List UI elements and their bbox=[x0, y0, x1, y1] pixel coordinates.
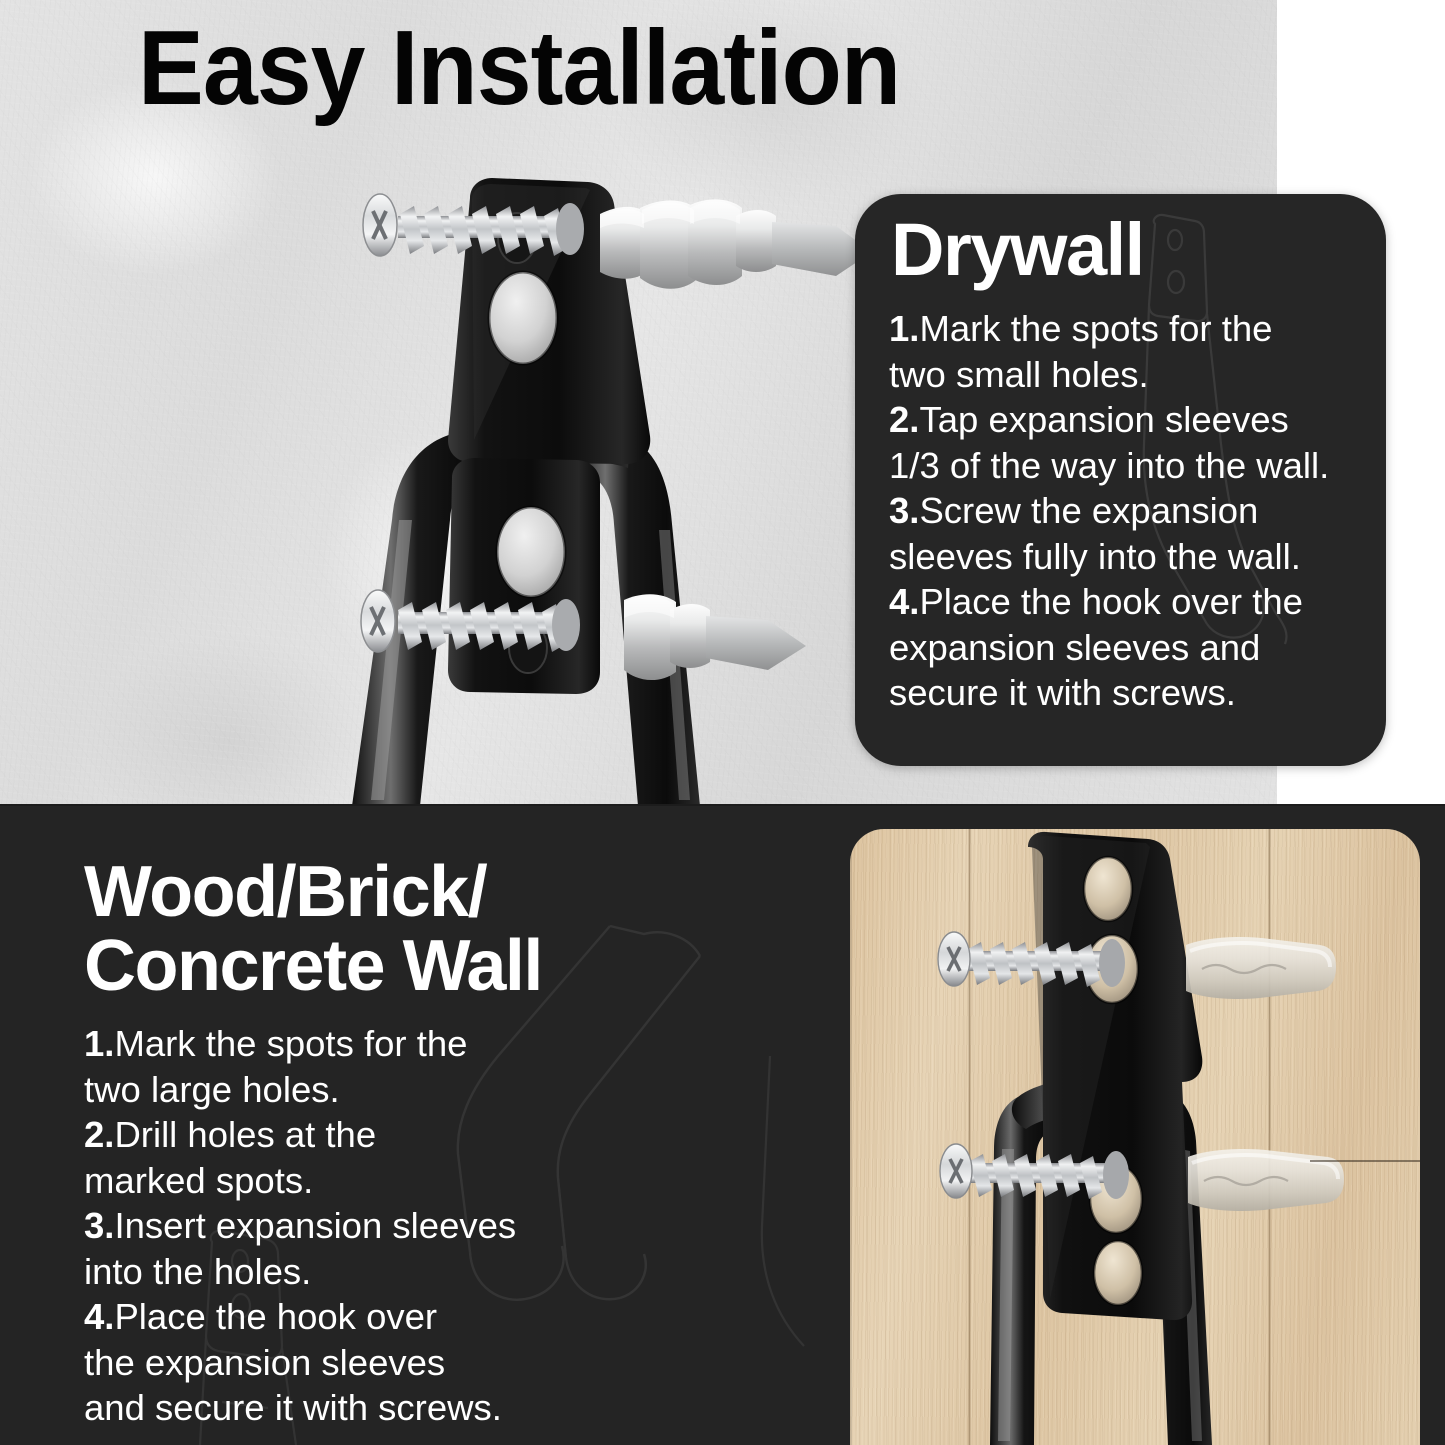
step-item: 2.Drill holes at the marked spots. bbox=[84, 1112, 704, 1203]
masonry-title-line-1: Wood/Brick/ bbox=[84, 855, 724, 929]
step-text: Drill holes at the bbox=[114, 1114, 376, 1155]
step-text: secure it with screws. bbox=[889, 670, 1369, 716]
masonry-title-line-2: Concrete Wall bbox=[84, 929, 724, 1003]
drywall-anchor-upper bbox=[600, 199, 872, 288]
masonry-steps-list: 1.Mark the spots for the two large holes… bbox=[84, 1021, 704, 1431]
masonry-panel-title: Wood/Brick/ Concrete Wall bbox=[84, 855, 724, 1003]
step-text: Screw the expansion bbox=[919, 490, 1258, 531]
step-number: 3. bbox=[84, 1205, 114, 1246]
step-text: two small holes. bbox=[889, 352, 1369, 398]
bracket-plate-lower bbox=[448, 458, 600, 694]
step-number: 3. bbox=[889, 490, 919, 531]
wood-hardware-illustration bbox=[850, 829, 1420, 1445]
step-text: expansion sleeves and bbox=[889, 625, 1369, 671]
step-number: 2. bbox=[84, 1114, 114, 1155]
step-text: marked spots. bbox=[84, 1158, 704, 1204]
wood-wall-photo bbox=[850, 829, 1420, 1445]
step-item: 1.Mark the spots for the two small holes… bbox=[889, 306, 1369, 397]
step-number: 1. bbox=[84, 1023, 114, 1064]
step-text: Tap expansion sleeves bbox=[919, 399, 1288, 440]
step-text: sleeves fully into the wall. bbox=[889, 534, 1369, 580]
expansion-sleeve-upper-wood bbox=[1186, 937, 1336, 999]
step-item: 3.Insert expansion sleeves into the hole… bbox=[84, 1203, 704, 1294]
bracket-plate-wood bbox=[1028, 832, 1202, 1320]
step-text: the expansion sleeves bbox=[84, 1340, 704, 1386]
drywall-steps-list: 1.Mark the spots for the two small holes… bbox=[889, 306, 1369, 716]
step-number: 4. bbox=[889, 581, 919, 622]
step-number: 1. bbox=[889, 308, 919, 349]
step-text: into the holes. bbox=[84, 1249, 704, 1295]
drywall-panel-title: Drywall bbox=[891, 210, 1144, 290]
step-item: 4.Place the hook over the expansion slee… bbox=[84, 1294, 704, 1431]
step-number: 2. bbox=[889, 399, 919, 440]
step-text: two large holes. bbox=[84, 1067, 704, 1113]
infographic-canvas: Easy Installation Drywall 1.Mark the spo… bbox=[0, 0, 1445, 1445]
drywall-section: Easy Installation Drywall 1.Mark the spo… bbox=[0, 0, 1445, 806]
expansion-sleeve-lower-wood bbox=[1188, 1149, 1420, 1211]
page-title: Easy Installation bbox=[138, 14, 1124, 124]
step-text: 1/3 of the way into the wall. bbox=[889, 443, 1369, 489]
step-item: 1.Mark the spots for the two large holes… bbox=[84, 1021, 704, 1112]
drywall-instructions-panel: Drywall 1.Mark the spots for the two sma… bbox=[855, 194, 1386, 766]
step-number: 4. bbox=[84, 1296, 114, 1337]
masonry-section: Wood/Brick/ Concrete Wall 1.Mark the spo… bbox=[0, 806, 1445, 1445]
drywall-anchor-lower bbox=[624, 594, 806, 680]
step-text: Place the hook over bbox=[114, 1296, 437, 1337]
step-text: Place the hook over the bbox=[919, 581, 1303, 622]
step-text: and secure it with screws. bbox=[84, 1385, 704, 1431]
step-text: Mark the spots for the bbox=[919, 308, 1272, 349]
step-item: 4.Place the hook over the expansion slee… bbox=[889, 579, 1369, 716]
step-text: Insert expansion sleeves bbox=[114, 1205, 516, 1246]
step-text: Mark the spots for the bbox=[114, 1023, 467, 1064]
step-item: 2.Tap expansion sleeves 1/3 of the way i… bbox=[889, 397, 1369, 488]
step-item: 3.Screw the expansion sleeves fully into… bbox=[889, 488, 1369, 579]
